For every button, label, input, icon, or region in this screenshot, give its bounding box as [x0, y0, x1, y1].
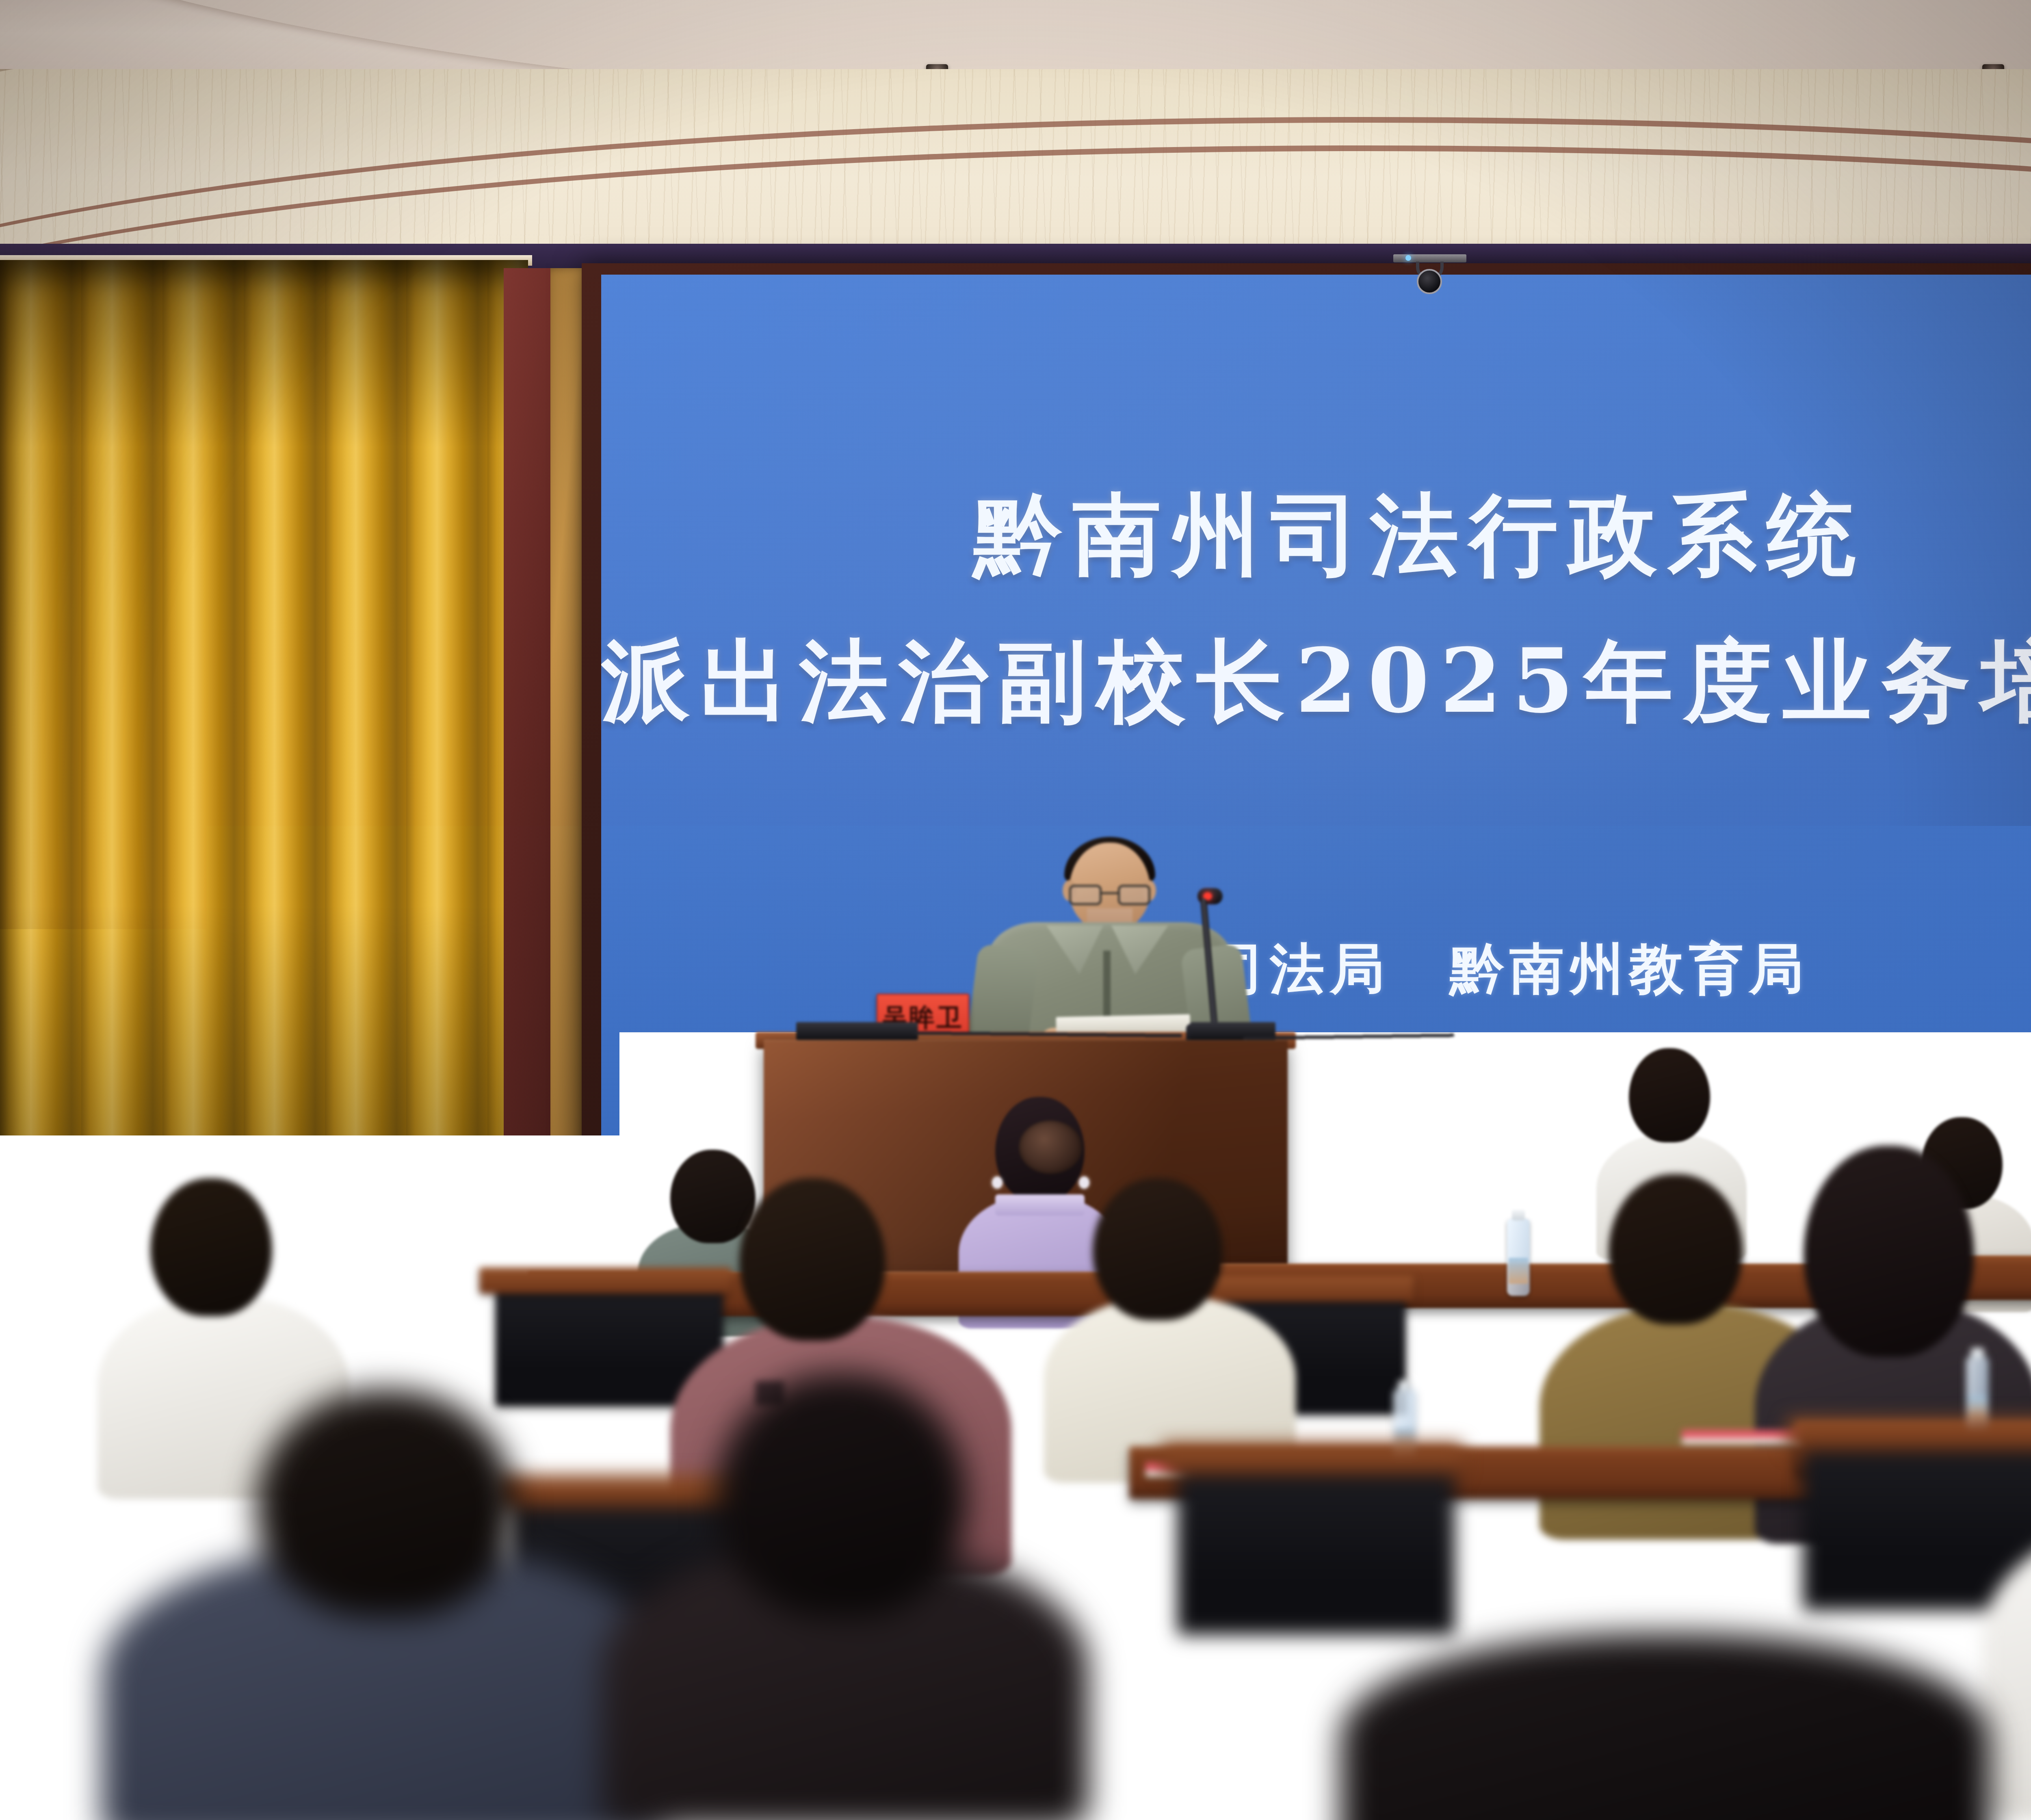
- person-head-hair: [150, 1178, 272, 1316]
- screen-subtitle-organizations: 黔南州司法局 黔南州教育局: [601, 933, 2031, 1006]
- chair-frame: [1162, 1442, 1462, 1475]
- camera-mount-plate: [1393, 254, 1466, 262]
- audience-person-foreground-right: [1340, 1584, 1990, 1820]
- camera-status-led-icon: [1405, 255, 1411, 261]
- screen-title-line-2: 派出法治副校长2025年度业务培训会: [601, 636, 2031, 725]
- person-head-hair: [1629, 1048, 1710, 1142]
- person-head-hair: [715, 1373, 967, 1617]
- stage-curtain-left: [0, 260, 528, 1300]
- podium-control-unit-left: [796, 1022, 918, 1040]
- audience-person-foreground-centre: [601, 1373, 1089, 1820]
- audience-person-1: [102, 1389, 670, 1820]
- glasses-bridge: [1102, 892, 1118, 894]
- glasses-lens-right: [1118, 885, 1150, 905]
- training-booklet: [1682, 1430, 1804, 1445]
- person-head-hair: [1609, 1174, 1743, 1324]
- person-head-hair: [256, 1389, 516, 1617]
- person-torso: [1340, 1633, 1990, 1820]
- speaker-glasses-icon: [1069, 885, 1150, 907]
- conference-hall-photo: 黔南州司法行政系统 派出法治副校长2025年度业务培训会 黔南州司法局 黔南州教…: [0, 0, 2031, 1820]
- water-bottle: [1507, 1219, 1530, 1296]
- camera-lens-icon: [1417, 269, 1442, 294]
- screen-title-line-1: 黔南州司法行政系统: [601, 490, 2031, 578]
- person-head-hair: [1804, 1146, 1974, 1357]
- person-head-hair: [739, 1178, 886, 1341]
- ceiling-camera: [1381, 254, 1479, 289]
- person-head-hair: [1093, 1178, 1223, 1320]
- glasses-lens-left: [1069, 885, 1102, 905]
